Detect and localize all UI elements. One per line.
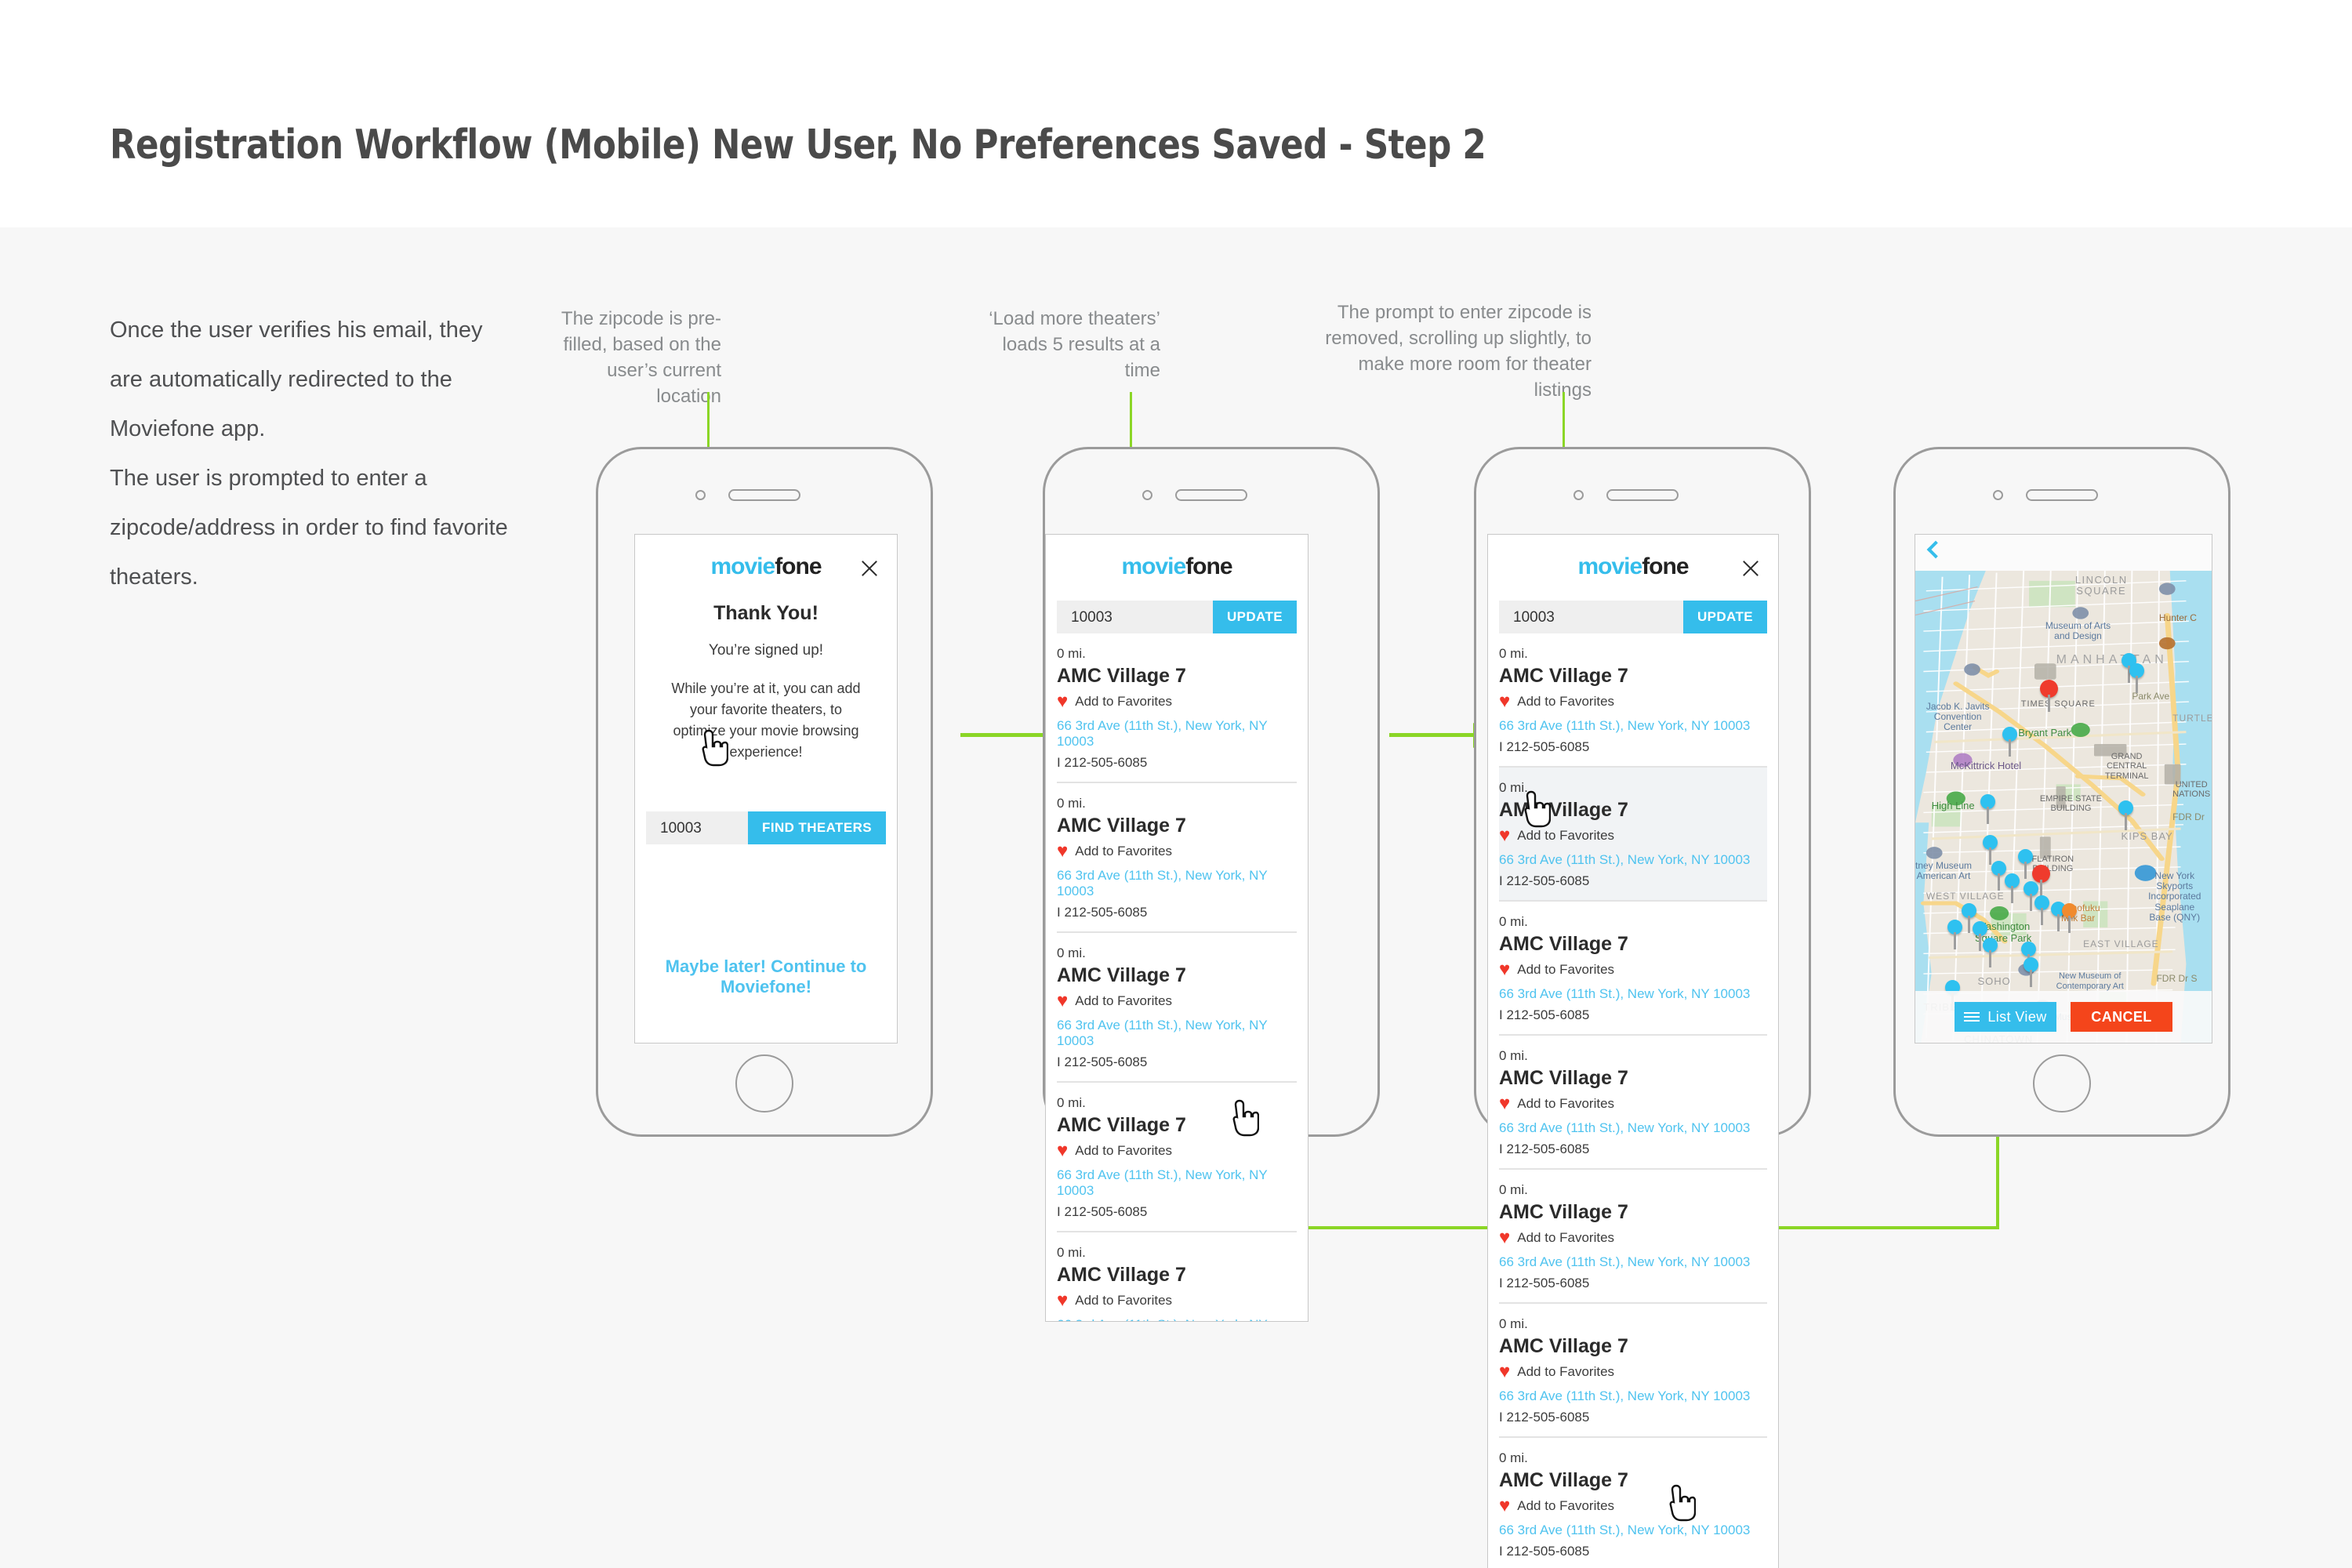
map-label: McKittrick Hotel [1951, 760, 2021, 771]
map-label: KIPS BAY [2122, 831, 2173, 842]
heart-icon[interactable]: ♥ [1057, 992, 1068, 1011]
add-to-favorites-label: Add to Favorites [1517, 1498, 1614, 1514]
map-pin-blue[interactable] [1983, 835, 1998, 850]
add-to-favorites-button[interactable]: ♥Add to Favorites [1499, 826, 1767, 845]
zipcode-row-2: 10003 UPDATE [1057, 601, 1297, 633]
logo-fone-text: fone [1185, 554, 1232, 579]
map-pin-blue[interactable] [2021, 942, 2036, 956]
theater-phone: I 212-505-6085 [1057, 1054, 1297, 1070]
map-pin-blue[interactable] [2005, 873, 2020, 888]
map-label: MANHATTAN [2056, 653, 2168, 667]
theater-list-item[interactable]: 0 mi.AMC Village 7♥Add to Favorites66 3r… [1057, 633, 1297, 783]
heart-icon[interactable]: ♥ [1499, 960, 1510, 979]
theater-list-item[interactable]: 0 mi.AMC Village 7♥Add to Favorites66 3r… [1057, 1083, 1297, 1232]
logo-movie-text: movie [710, 554, 775, 579]
add-to-favorites-label: Add to Favorites [1075, 1293, 1172, 1308]
map-pin-blue[interactable] [1983, 938, 1998, 953]
zipcode-row-3: 10003 UPDATE [1499, 601, 1767, 633]
close-icon[interactable] [1740, 558, 1761, 579]
signed-up-subtitle: You’re signed up! [635, 642, 897, 659]
moviefone-logo: moviefone [1046, 535, 1308, 580]
theater-address[interactable]: 66 3rd Ave (11th St.), New York, NY 1000… [1499, 1254, 1767, 1270]
flow-arrow-2-line [1389, 733, 1475, 737]
speaker-grille-icon [1175, 489, 1247, 501]
theater-address[interactable]: 66 3rd Ave (11th St.), New York, NY 1000… [1499, 852, 1767, 868]
zipcode-input-1[interactable]: 10003 [660, 820, 702, 837]
theater-name: AMC Village 7 [1057, 1114, 1297, 1137]
add-to-favorites-button[interactable]: ♥Add to Favorites [1499, 692, 1767, 711]
map-label: New York Skyports Incorporated Seaplane … [2148, 871, 2201, 923]
zipcode-input-3[interactable]: 10003 [1513, 609, 1555, 626]
add-to-favorites-label: Add to Favorites [1517, 694, 1614, 710]
moviefone-logo: moviefone [635, 535, 897, 580]
logo-fone-text: fone [1642, 554, 1688, 579]
heart-icon[interactable]: ♥ [1057, 1142, 1068, 1160]
intro-description: Once the user verifies his email, they a… [110, 306, 517, 602]
theater-name: AMC Village 7 [1499, 933, 1767, 956]
update-button[interactable]: UPDATE [1213, 601, 1297, 633]
theater-list-item[interactable]: 0 mi.AMC Village 7♥Add to Favorites66 3r… [1499, 768, 1767, 902]
add-to-favorites-label: Add to Favorites [1075, 844, 1172, 859]
theater-list-item[interactable]: 0 mi.AMC Village 7♥Add to Favorites66 3r… [1499, 1438, 1767, 1568]
add-to-favorites-label: Add to Favorites [1517, 962, 1614, 978]
theater-list-item[interactable]: 0 mi.AMC Village 7♥Add to Favorites66 3r… [1499, 633, 1767, 768]
map-pin-blue[interactable] [2024, 881, 2038, 896]
map-pin-red[interactable] [2032, 865, 2050, 883]
home-button[interactable] [735, 1054, 793, 1112]
theater-distance: 0 mi. [1499, 646, 1767, 662]
add-to-favorites-label: Add to Favorites [1517, 1096, 1614, 1112]
theater-name: AMC Village 7 [1499, 1067, 1767, 1090]
cursor-pointer-2 [1231, 1099, 1259, 1137]
map-label: Jacob K. Javits Convention Center [1926, 702, 1990, 733]
map-canvas[interactable]: LINCOLN SQUAREMANHATTANMuseum of Arts an… [1915, 571, 2212, 1043]
thank-you-body: While you’re at it, you can add your fav… [662, 678, 870, 763]
map-label: EMPIRE STATE BUILDING [2040, 794, 2102, 813]
phone-frame-4: LINCOLN SQUAREMANHATTANMuseum of Arts an… [1893, 447, 2230, 1137]
theater-phone: I 212-505-6085 [1499, 1544, 1767, 1559]
list-view-button[interactable]: List View [1955, 1002, 2056, 1032]
add-to-favorites-button[interactable]: ♥Add to Favorites [1057, 1291, 1297, 1310]
theater-address[interactable]: 66 3rd Ave (11th St.), New York, NY 1000… [1057, 1317, 1297, 1322]
map-pin-blue[interactable] [2118, 800, 2133, 815]
theater-distance: 0 mi. [1057, 646, 1297, 662]
theater-address[interactable]: 66 3rd Ave (11th St.), New York, NY 1000… [1499, 718, 1767, 734]
flow-arrow-1-line [960, 733, 1047, 737]
add-to-favorites-button[interactable]: ♥Add to Favorites [1057, 992, 1297, 1011]
map-label: FDR Dr [2172, 812, 2205, 822]
heart-icon[interactable]: ♥ [1499, 1363, 1510, 1381]
theater-name: AMC Village 7 [1057, 665, 1297, 688]
heart-icon[interactable]: ♥ [1499, 692, 1510, 711]
map-label: TURTLE B [2172, 713, 2212, 724]
theater-list-item[interactable]: 0 mi.AMC Village 7♥Add to Favorites66 3r… [1499, 1170, 1767, 1304]
theater-phone: I 212-505-6085 [1499, 1410, 1767, 1425]
theater-distance: 0 mi. [1499, 914, 1767, 930]
home-button[interactable] [2033, 1054, 2091, 1112]
back-chevron-icon[interactable] [1927, 541, 1945, 559]
theater-phone: I 212-505-6085 [1499, 873, 1767, 889]
callout-zipcode-prefilled: The zipcode is pre-filled, based on the … [549, 306, 721, 409]
map-pin-blue[interactable] [1962, 903, 1976, 918]
theater-distance: 0 mi. [1057, 1095, 1297, 1111]
theater-phone: I 212-505-6085 [1499, 1007, 1767, 1023]
zipcode-row-1: 10003 FIND THEATERS [646, 811, 886, 844]
theater-address[interactable]: 66 3rd Ave (11th St.), New York, NY 1000… [1499, 1120, 1767, 1136]
add-to-favorites-button[interactable]: ♥Add to Favorites [1499, 1229, 1767, 1247]
heart-icon[interactable]: ♥ [1499, 1497, 1510, 1515]
moviefone-logo: moviefone [1488, 535, 1778, 580]
theater-name: AMC Village 7 [1499, 1335, 1767, 1358]
cursor-pointer-4 [1668, 1484, 1696, 1522]
add-to-favorites-button[interactable]: ♥Add to Favorites [1499, 960, 1767, 979]
theater-list-2: 0 mi.AMC Village 7♥Add to Favorites66 3r… [1046, 633, 1308, 1322]
map-label: New Museum of Contemporary Art [2056, 971, 2124, 990]
logo-movie-text: movie [1577, 554, 1642, 579]
map-label: LINCOLN SQUARE [2075, 575, 2128, 597]
map-pin-blue[interactable] [2002, 727, 2017, 742]
phone-frame-2: moviefone 10003 UPDATE 0 mi.AMC Village … [1043, 447, 1380, 1137]
theater-name: AMC Village 7 [1057, 964, 1297, 987]
hamburger-icon [1964, 1010, 1980, 1024]
map-pin-blue[interactable] [1991, 861, 2006, 876]
theater-name: AMC Village 7 [1057, 815, 1297, 837]
heart-icon[interactable]: ♥ [1057, 1291, 1068, 1310]
theater-phone: I 212-505-6085 [1057, 1204, 1297, 1220]
map-label: FDR Dr S [2156, 974, 2197, 984]
map-top-bar [1915, 535, 2212, 571]
theater-phone: I 212-505-6085 [1499, 1276, 1767, 1291]
theater-name: AMC Village 7 [1499, 1469, 1767, 1492]
add-to-favorites-label: Add to Favorites [1075, 993, 1172, 1009]
add-to-favorites-label: Add to Favorites [1075, 694, 1172, 710]
theater-phone: I 212-505-6085 [1057, 905, 1297, 920]
theater-phone: I 212-505-6085 [1057, 755, 1297, 771]
theater-distance: 0 mi. [1499, 1450, 1767, 1466]
add-to-favorites-button[interactable]: ♥Add to Favorites [1499, 1363, 1767, 1381]
theater-name: AMC Village 7 [1057, 1264, 1297, 1287]
map-label: GRAND CENTRAL TERMINAL [2105, 752, 2149, 780]
map-label: Bryant Park [2018, 728, 2071, 739]
list-view-label: List View [1987, 1009, 2046, 1025]
map-button-bar: List View CANCEL [1915, 991, 2212, 1043]
theater-address[interactable]: 66 3rd Ave (11th St.), New York, NY 1000… [1057, 1167, 1297, 1199]
camera-dot-icon [695, 490, 706, 500]
theater-name: AMC Village 7 [1499, 1201, 1767, 1224]
heart-icon[interactable]: ♥ [1057, 692, 1068, 711]
cancel-button[interactable]: CANCEL [2071, 1002, 2172, 1032]
map-label: UNITED NATIONS [2172, 780, 2210, 799]
theater-address[interactable]: 66 3rd Ave (11th St.), New York, NY 1000… [1057, 868, 1297, 899]
cursor-pointer-1 [700, 729, 728, 767]
theater-list-item[interactable]: 0 mi.AMC Village 7♥Add to Favorites66 3r… [1499, 1036, 1767, 1170]
theater-distance: 0 mi. [1499, 1316, 1767, 1332]
theater-list-item[interactable]: 0 mi.AMC Village 7♥Add to Favorites66 3r… [1057, 933, 1297, 1083]
add-to-favorites-button[interactable]: ♥Add to Favorites [1057, 692, 1297, 711]
speaker-grille-icon [1606, 489, 1679, 501]
add-to-favorites-label: Add to Favorites [1517, 1364, 1614, 1380]
theater-address[interactable]: 66 3rd Ave (11th St.), New York, NY 1000… [1499, 1523, 1767, 1538]
logo-movie-text: movie [1121, 554, 1185, 579]
map-label: tney Museum American Art [1915, 861, 1972, 881]
map-pin-blue[interactable] [1973, 921, 1987, 936]
map-label: Museum of Arts and Design [2045, 621, 2111, 641]
theater-list-item[interactable]: 0 mi.AMC Village 7♥Add to Favorites66 3r… [1057, 1232, 1297, 1322]
page-title: Registration Workflow (Mobile) New User,… [110, 122, 1486, 169]
theater-list-item[interactable]: 0 mi.AMC Village 7♥Add to Favorites66 3r… [1499, 1304, 1767, 1438]
thank-you-title: Thank You! [635, 602, 897, 625]
heart-icon[interactable]: ♥ [1057, 842, 1068, 861]
theater-distance: 0 mi. [1499, 1048, 1767, 1064]
speaker-grille-icon [2026, 489, 2098, 501]
map-label: High Line [1932, 800, 1975, 811]
callout-load-more: ‘Load more theaters’ loads 5 results at … [988, 306, 1160, 383]
cursor-pointer-3 [1523, 790, 1551, 828]
close-icon[interactable] [859, 558, 880, 579]
phone-frame-1: moviefone Thank You! You’re signed up! W… [596, 447, 933, 1137]
zipcode-input-2[interactable]: 10003 [1071, 609, 1112, 626]
heart-icon[interactable]: ♥ [1499, 1229, 1510, 1247]
camera-dot-icon [1142, 490, 1152, 500]
app-screen-1: moviefone Thank You! You’re signed up! W… [634, 534, 898, 1044]
logo-fone-text: fone [775, 554, 821, 579]
maybe-later-link[interactable]: Maybe later! Continue to Moviefone! [635, 956, 897, 997]
heart-icon[interactable]: ♥ [1499, 826, 1510, 845]
callout-prompt-removed: The prompt to enter zipcode is removed, … [1325, 299, 1592, 403]
theater-phone: I 212-505-6085 [1499, 739, 1767, 755]
map-view[interactable]: LINCOLN SQUAREMANHATTANMuseum of Arts an… [1915, 535, 2212, 1043]
map-pin-orange[interactable] [2062, 903, 2077, 918]
camera-dot-icon [1573, 490, 1584, 500]
add-to-favorites-label: Add to Favorites [1075, 1143, 1172, 1159]
add-to-favorites-button[interactable]: ♥Add to Favorites [1499, 1497, 1767, 1515]
app-screen-4: LINCOLN SQUAREMANHATTANMuseum of Arts an… [1915, 534, 2212, 1044]
theater-phone: I 212-505-6085 [1499, 1142, 1767, 1157]
theater-name: AMC Village 7 [1499, 665, 1767, 688]
app-screen-3: moviefone 10003 UPDATE 0 mi.AMC Village … [1487, 534, 1779, 1568]
header-band [0, 0, 2352, 227]
find-theaters-button[interactable]: FIND THEATERS [748, 811, 886, 844]
map-label: Hunter C [2159, 613, 2197, 623]
theater-address[interactable]: 66 3rd Ave (11th St.), New York, NY 1000… [1057, 1018, 1297, 1049]
map-pin-blue[interactable] [2034, 895, 2049, 910]
add-to-favorites-button[interactable]: ♥Add to Favorites [1057, 842, 1297, 861]
theater-address[interactable]: 66 3rd Ave (11th St.), New York, NY 1000… [1499, 1388, 1767, 1404]
theater-distance: 0 mi. [1057, 946, 1297, 961]
add-to-favorites-label: Add to Favorites [1517, 1230, 1614, 1246]
theater-distance: 0 mi. [1057, 796, 1297, 811]
update-button[interactable]: UPDATE [1683, 601, 1767, 633]
theater-distance: 0 mi. [1499, 1182, 1767, 1198]
add-to-favorites-button[interactable]: ♥Add to Favorites [1499, 1094, 1767, 1113]
theater-list-item[interactable]: 0 mi.AMC Village 7♥Add to Favorites66 3r… [1057, 783, 1297, 933]
map-label: WEST VILLAGE [1926, 891, 2005, 902]
theater-distance: 0 mi. [1057, 1245, 1297, 1261]
app-screen-2: moviefone 10003 UPDATE 0 mi.AMC Village … [1045, 534, 1308, 1322]
theater-list-item[interactable]: 0 mi.AMC Village 7♥Add to Favorites66 3r… [1499, 902, 1767, 1036]
map-pin-blue[interactable] [2018, 849, 2033, 864]
map-label: SOHO [1977, 976, 2010, 987]
theater-address[interactable]: 66 3rd Ave (11th St.), New York, NY 1000… [1057, 718, 1297, 750]
theater-list-3: 0 mi.AMC Village 7♥Add to Favorites66 3r… [1488, 633, 1778, 1568]
add-to-favorites-label: Add to Favorites [1517, 828, 1614, 844]
camera-dot-icon [1993, 490, 2003, 500]
map-label: EAST VILLAGE [2083, 939, 2159, 949]
heart-icon[interactable]: ♥ [1499, 1094, 1510, 1113]
add-to-favorites-button[interactable]: ♥Add to Favorites [1057, 1142, 1297, 1160]
theater-address[interactable]: 66 3rd Ave (11th St.), New York, NY 1000… [1499, 986, 1767, 1002]
map-pin-blue[interactable] [1947, 920, 1962, 935]
map-pin-red[interactable] [2040, 680, 2058, 698]
map-pin-blue[interactable] [2129, 663, 2144, 678]
map-label: TIMES SQUARE [2021, 699, 2096, 709]
speaker-grille-icon [728, 489, 800, 501]
